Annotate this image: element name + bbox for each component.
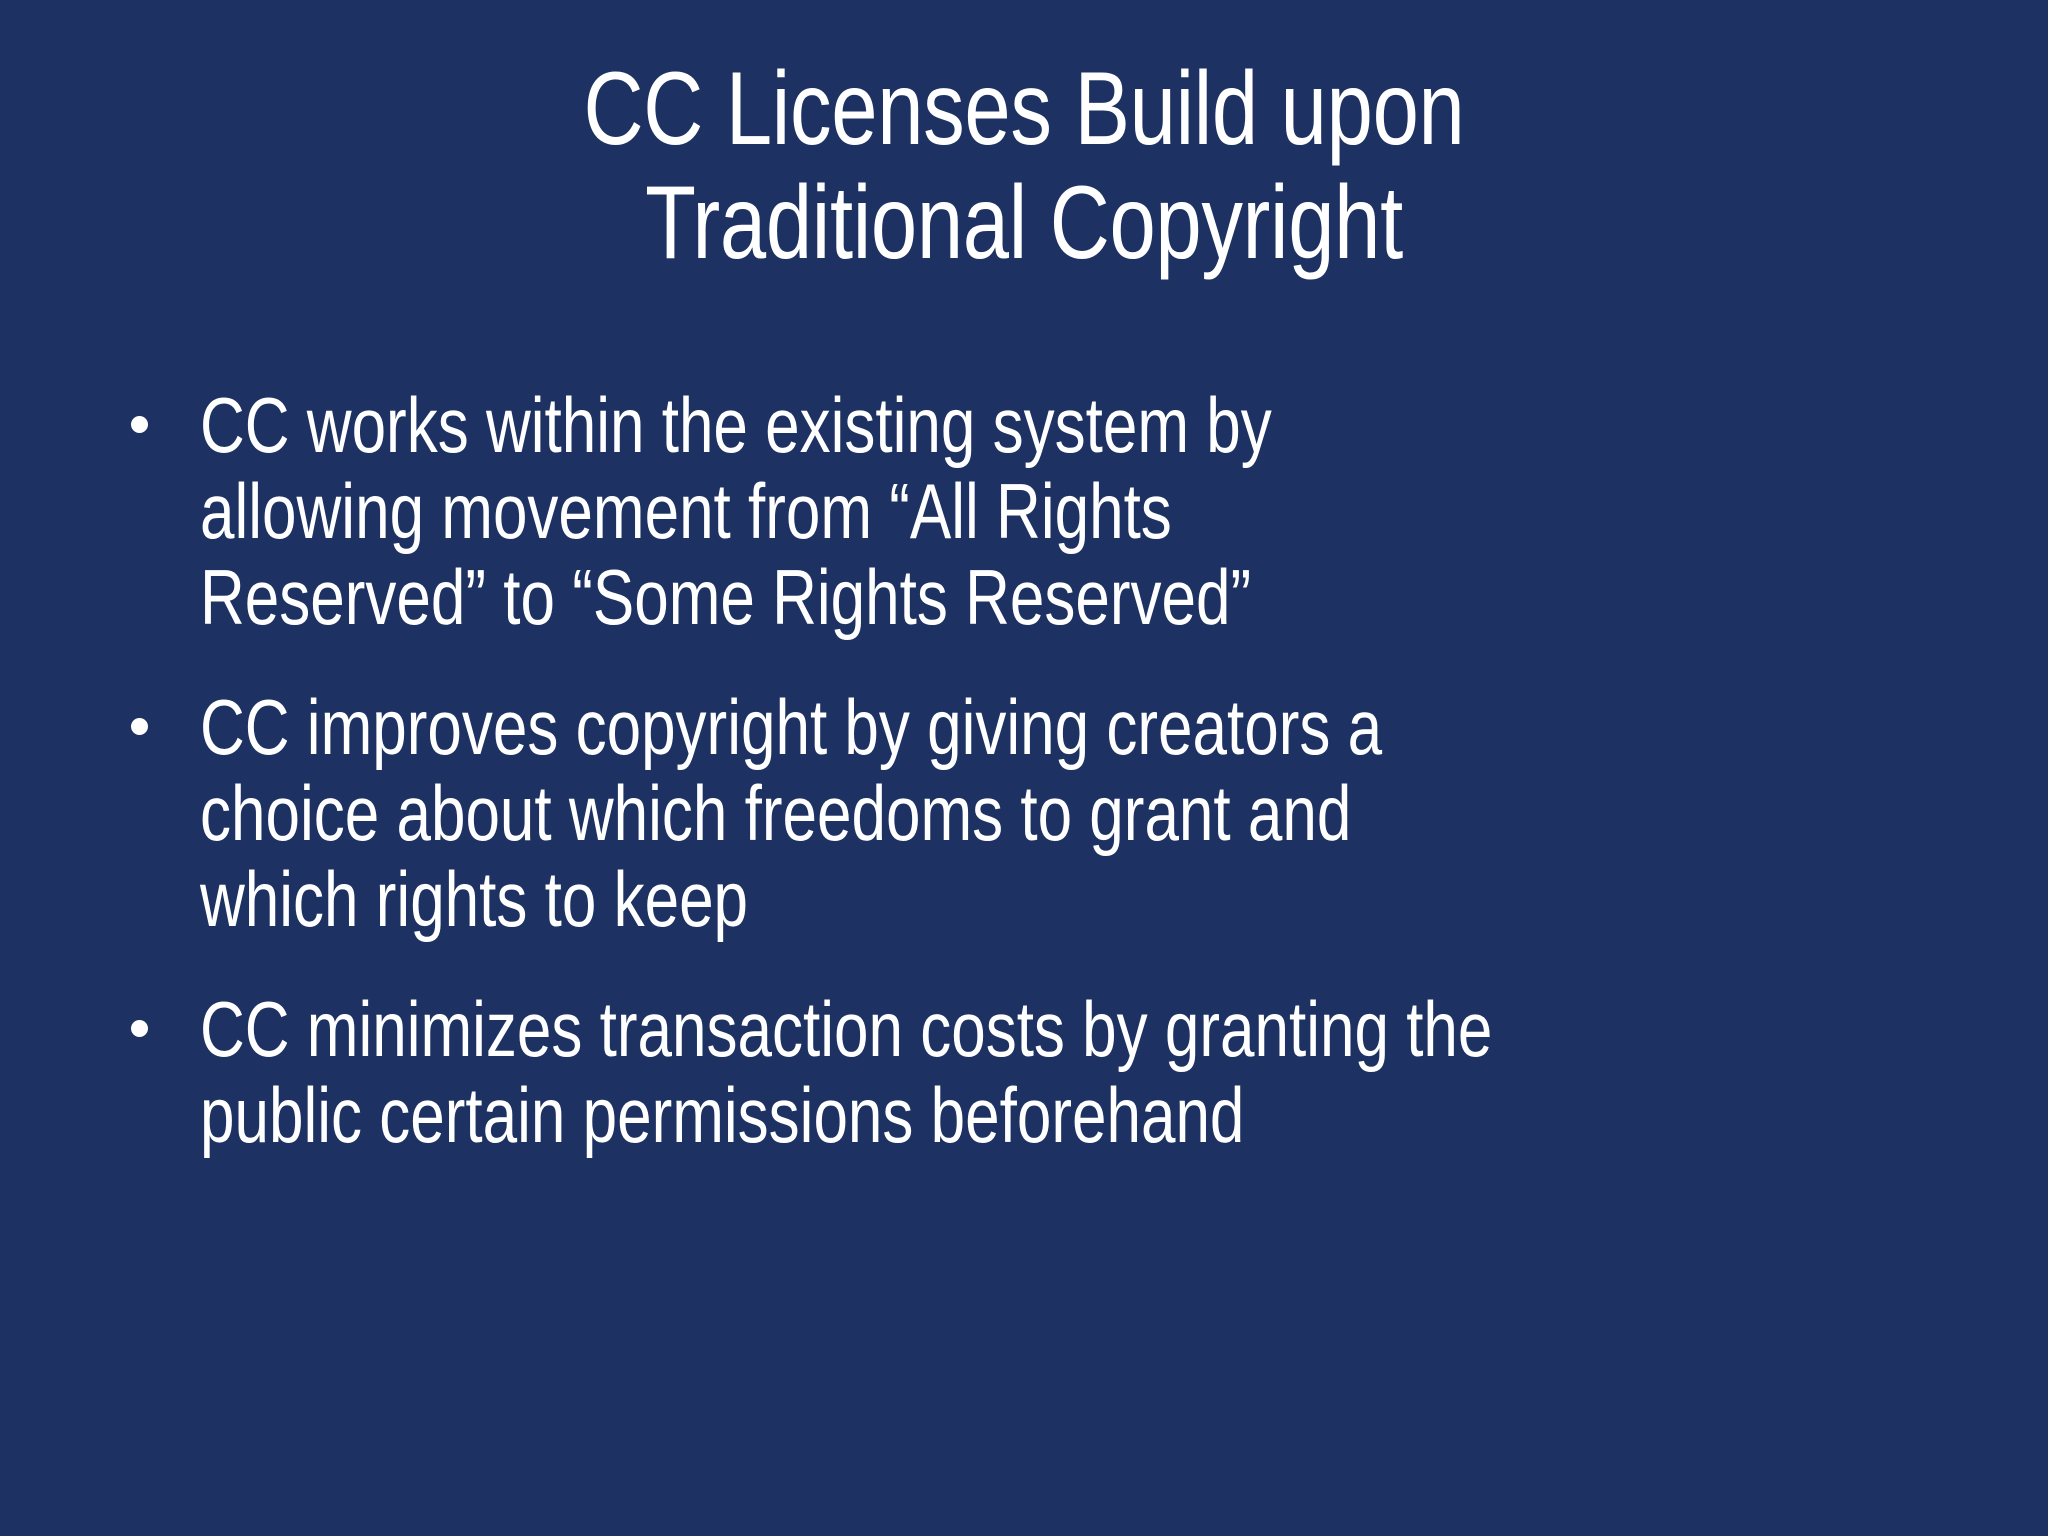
round-bullet-icon	[131, 416, 148, 433]
presentation-slide: CC Licenses Build upon Traditional Copyr…	[0, 0, 2048, 1536]
slide-title-line-1: CC Licenses Build upon	[325, 52, 1723, 166]
bullet-1-line-3: Reserved” to “Some Rights Reserved”	[200, 554, 1623, 640]
bullet-1-line-1: CC works within the existing system by	[200, 382, 1623, 468]
slide-title-line-2: Traditional Copyright	[325, 166, 1723, 280]
bullet-2-line-3: which rights to keep	[200, 856, 1623, 942]
bullet-item-2: CC improves copyright by giving creators…	[110, 684, 1990, 942]
round-bullet-icon	[131, 718, 148, 735]
bullet-item-3-text: CC minimizes transaction costs by granti…	[200, 986, 1990, 1158]
bullet-2-line-1: CC improves copyright by giving creators…	[200, 684, 1623, 770]
round-bullet-icon	[131, 1020, 148, 1037]
bullet-2-line-2: choice about which freedoms to grant and	[200, 770, 1623, 856]
bullet-item-1: CC works within the existing system by a…	[110, 382, 1990, 640]
bullet-3-line-2: public certain permissions beforehand	[200, 1072, 1623, 1158]
bullet-item-1-text: CC works within the existing system by a…	[200, 382, 1990, 640]
bullet-3-line-1: CC minimizes transaction costs by granti…	[200, 986, 1623, 1072]
slide-title: CC Licenses Build upon Traditional Copyr…	[150, 52, 1898, 280]
slide-bullet-list: CC works within the existing system by a…	[110, 382, 1990, 1158]
bullet-1-line-2: allowing movement from “All Rights	[200, 468, 1623, 554]
bullet-item-2-text: CC improves copyright by giving creators…	[200, 684, 1990, 942]
bullet-item-3: CC minimizes transaction costs by granti…	[110, 986, 1990, 1158]
